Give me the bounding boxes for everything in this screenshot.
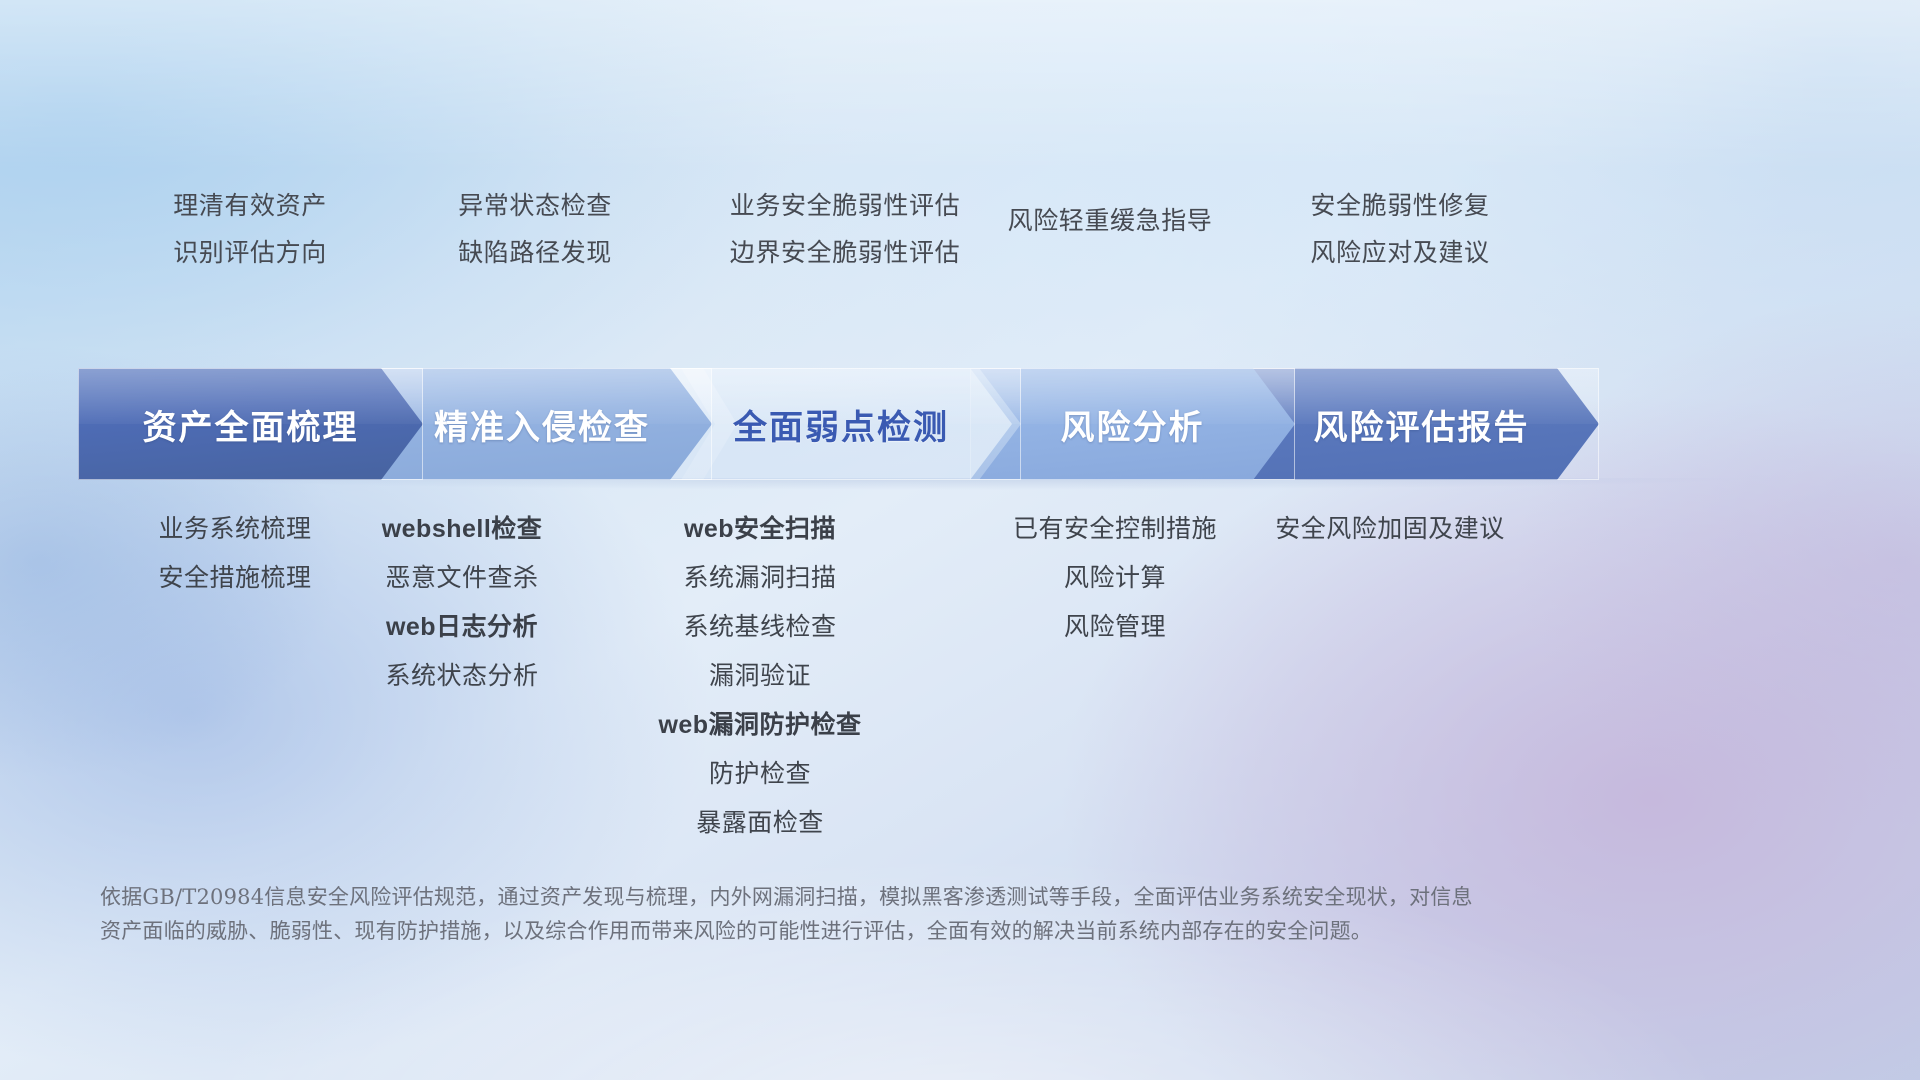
- stage-chevron-risk-report[interactable]: 风险评估报告: [1244, 368, 1599, 480]
- stage-title: 精准入侵检查: [434, 400, 650, 449]
- details-weakness-detection: web安全扫描 系统漏洞扫描 系统基线检查 漏洞验证 web漏洞防护检查 防护检…: [570, 505, 950, 848]
- detail-item: web安全扫描: [570, 505, 950, 554]
- stage-chevron-intrusion-check[interactable]: 精准入侵检查: [372, 368, 712, 480]
- process-chevron-band: 资产全面梳理 精准入侵检查 全面弱点检测 风险分析 风险: [0, 368, 1920, 480]
- top-note-line: 安全脆弱性修复: [1185, 183, 1615, 230]
- footer-description: 依据GB/T20984信息安全风险评估规范，通过资产发现与梳理，内外网漏洞扫描，…: [100, 880, 1620, 948]
- footer-line-1: 依据GB/T20984信息安全风险评估规范，通过资产发现与梳理，内外网漏洞扫描，…: [100, 885, 1473, 909]
- infographic-slide: 理清有效资产 识别评估方向 异常状态检查 缺陷路径发现 业务安全脆弱性评估 边界…: [0, 0, 1920, 1080]
- top-notes-row: 理清有效资产 识别评估方向 异常状态检查 缺陷路径发现 业务安全脆弱性评估 边界…: [0, 183, 1920, 293]
- detail-item: 暴露面检查: [570, 799, 950, 848]
- top-note-line: 风险应对及建议: [1185, 230, 1615, 277]
- stage-title: 全面弱点检测: [733, 400, 949, 449]
- detail-notes-row: 业务系统梳理 安全措施梳理 webshell检查 恶意文件查杀 web日志分析 …: [0, 505, 1920, 815]
- stage-title: 风险评估报告: [1314, 400, 1530, 449]
- detail-item: 风险计算: [920, 554, 1310, 603]
- detail-item: 系统漏洞扫描: [570, 554, 950, 603]
- detail-item: 系统基线检查: [570, 603, 950, 652]
- detail-item: 漏洞验证: [570, 652, 950, 701]
- stage-title: 风险分析: [1061, 400, 1205, 449]
- stage-chevron-weakness-detection[interactable]: 全面弱点检测: [661, 368, 1021, 480]
- top-notes-risk-report: 安全脆弱性修复 风险应对及建议: [1185, 183, 1615, 277]
- footer-line-2: 资产面临的威胁、脆弱性、现有防护措施，以及综合作用而带来风险的可能性进行评估，全…: [100, 919, 1372, 943]
- detail-item: 防护检查: [570, 750, 950, 799]
- detail-item: 风险管理: [920, 603, 1310, 652]
- detail-item: web漏洞防护检查: [570, 701, 950, 750]
- band-drop-shadow: [78, 478, 1842, 494]
- stage-chevron-asset-inventory[interactable]: 资产全面梳理: [78, 368, 423, 480]
- details-risk-report: 安全风险加固及建议: [1170, 505, 1610, 554]
- stage-title: 资产全面梳理: [143, 400, 359, 449]
- detail-item: 安全风险加固及建议: [1170, 505, 1610, 554]
